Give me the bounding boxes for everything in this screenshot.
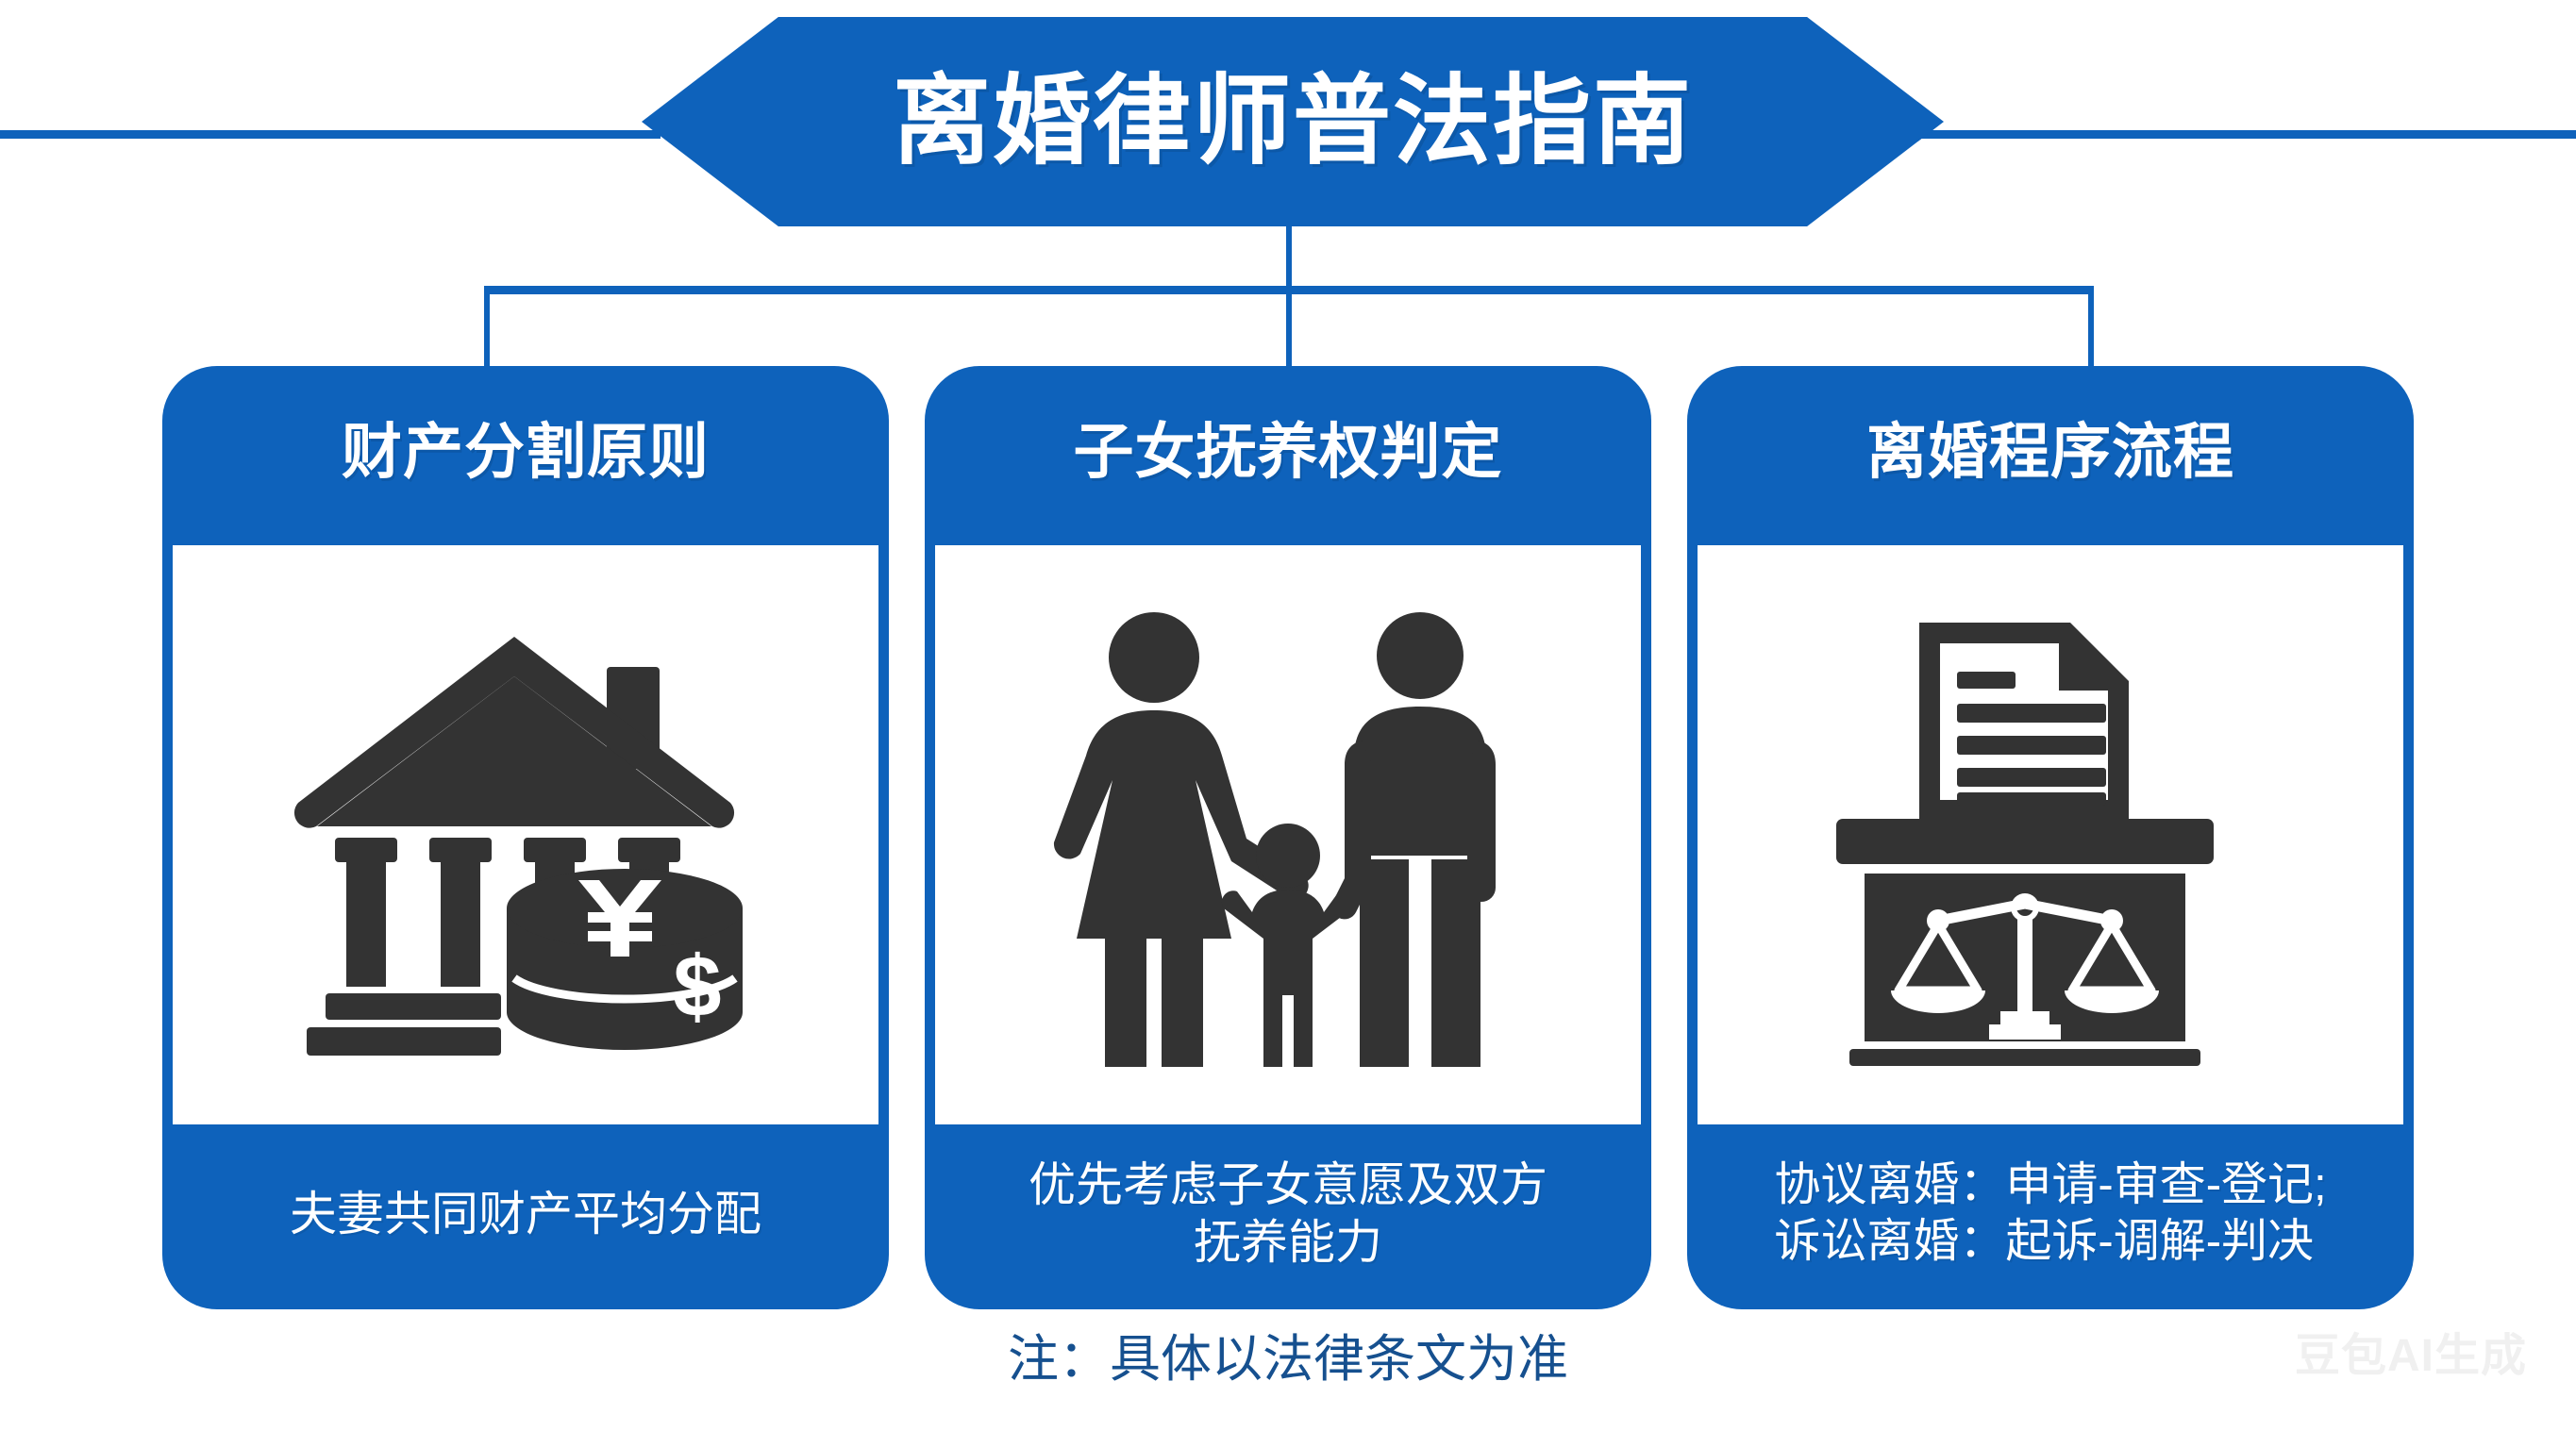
card-title-2: 子女抚养权判定 — [1074, 422, 1503, 482]
page-title: 离婚律师普法指南 — [893, 73, 1693, 171]
card-header-2: 子女抚养权判定 — [925, 366, 1651, 545]
header-rule-right — [1915, 130, 2576, 139]
card-footer-text-1: 夫妻共同财产平均分配 — [290, 1186, 761, 1243]
header-rule-left — [0, 130, 661, 139]
card-footer-text-3: 协议离婚：申请-审查-登记; 诉讼离婚：起诉-调解-判决 — [1774, 1157, 2326, 1271]
card-body-1: $ — [173, 545, 878, 1124]
card-header-3: 离婚程序流程 — [1687, 366, 2414, 545]
connector-stem — [1286, 226, 1292, 291]
card-body-3 — [1698, 545, 2403, 1124]
ai-watermark: 豆包AI生成 — [2295, 1334, 2527, 1379]
card-title-1: 财产分割原则 — [342, 422, 710, 482]
card-divorce-procedure[interactable]: 离婚程序流程 — [1687, 366, 2414, 1309]
header-banner: 离婚律师普法指南 — [642, 17, 1944, 226]
legal-note: 注：具体以法律条文为准 — [0, 1334, 2576, 1385]
family-parents-child-icon — [1043, 599, 1533, 1071]
card-property-division[interactable]: 财产分割原则 — [162, 366, 889, 1309]
house-bank-money-icon: $ — [271, 608, 780, 1061]
card-body-2 — [935, 545, 1641, 1124]
card-header-1: 财产分割原则 — [162, 366, 889, 545]
card-footer-2: 优先考虑子女意愿及双方 抚养能力 — [925, 1124, 1651, 1309]
card-child-custody[interactable]: 子女抚养权判定 — [925, 366, 1651, 1309]
cards-row: 财产分割原则 — [0, 366, 2576, 1309]
svg-text:$: $ — [673, 939, 721, 1035]
court-podium-scales-document-icon — [1829, 604, 2272, 1066]
card-footer-text-2: 优先考虑子女意愿及双方 抚养能力 — [1029, 1157, 1547, 1272]
card-title-3: 离婚程序流程 — [1866, 422, 2234, 482]
header-zone: 离婚律师普法指南 — [0, 0, 2576, 236]
card-footer-1: 夫妻共同财产平均分配 — [162, 1124, 889, 1309]
card-footer-3: 协议离婚：申请-审查-登记; 诉讼离婚：起诉-调解-判决 — [1687, 1124, 2414, 1309]
